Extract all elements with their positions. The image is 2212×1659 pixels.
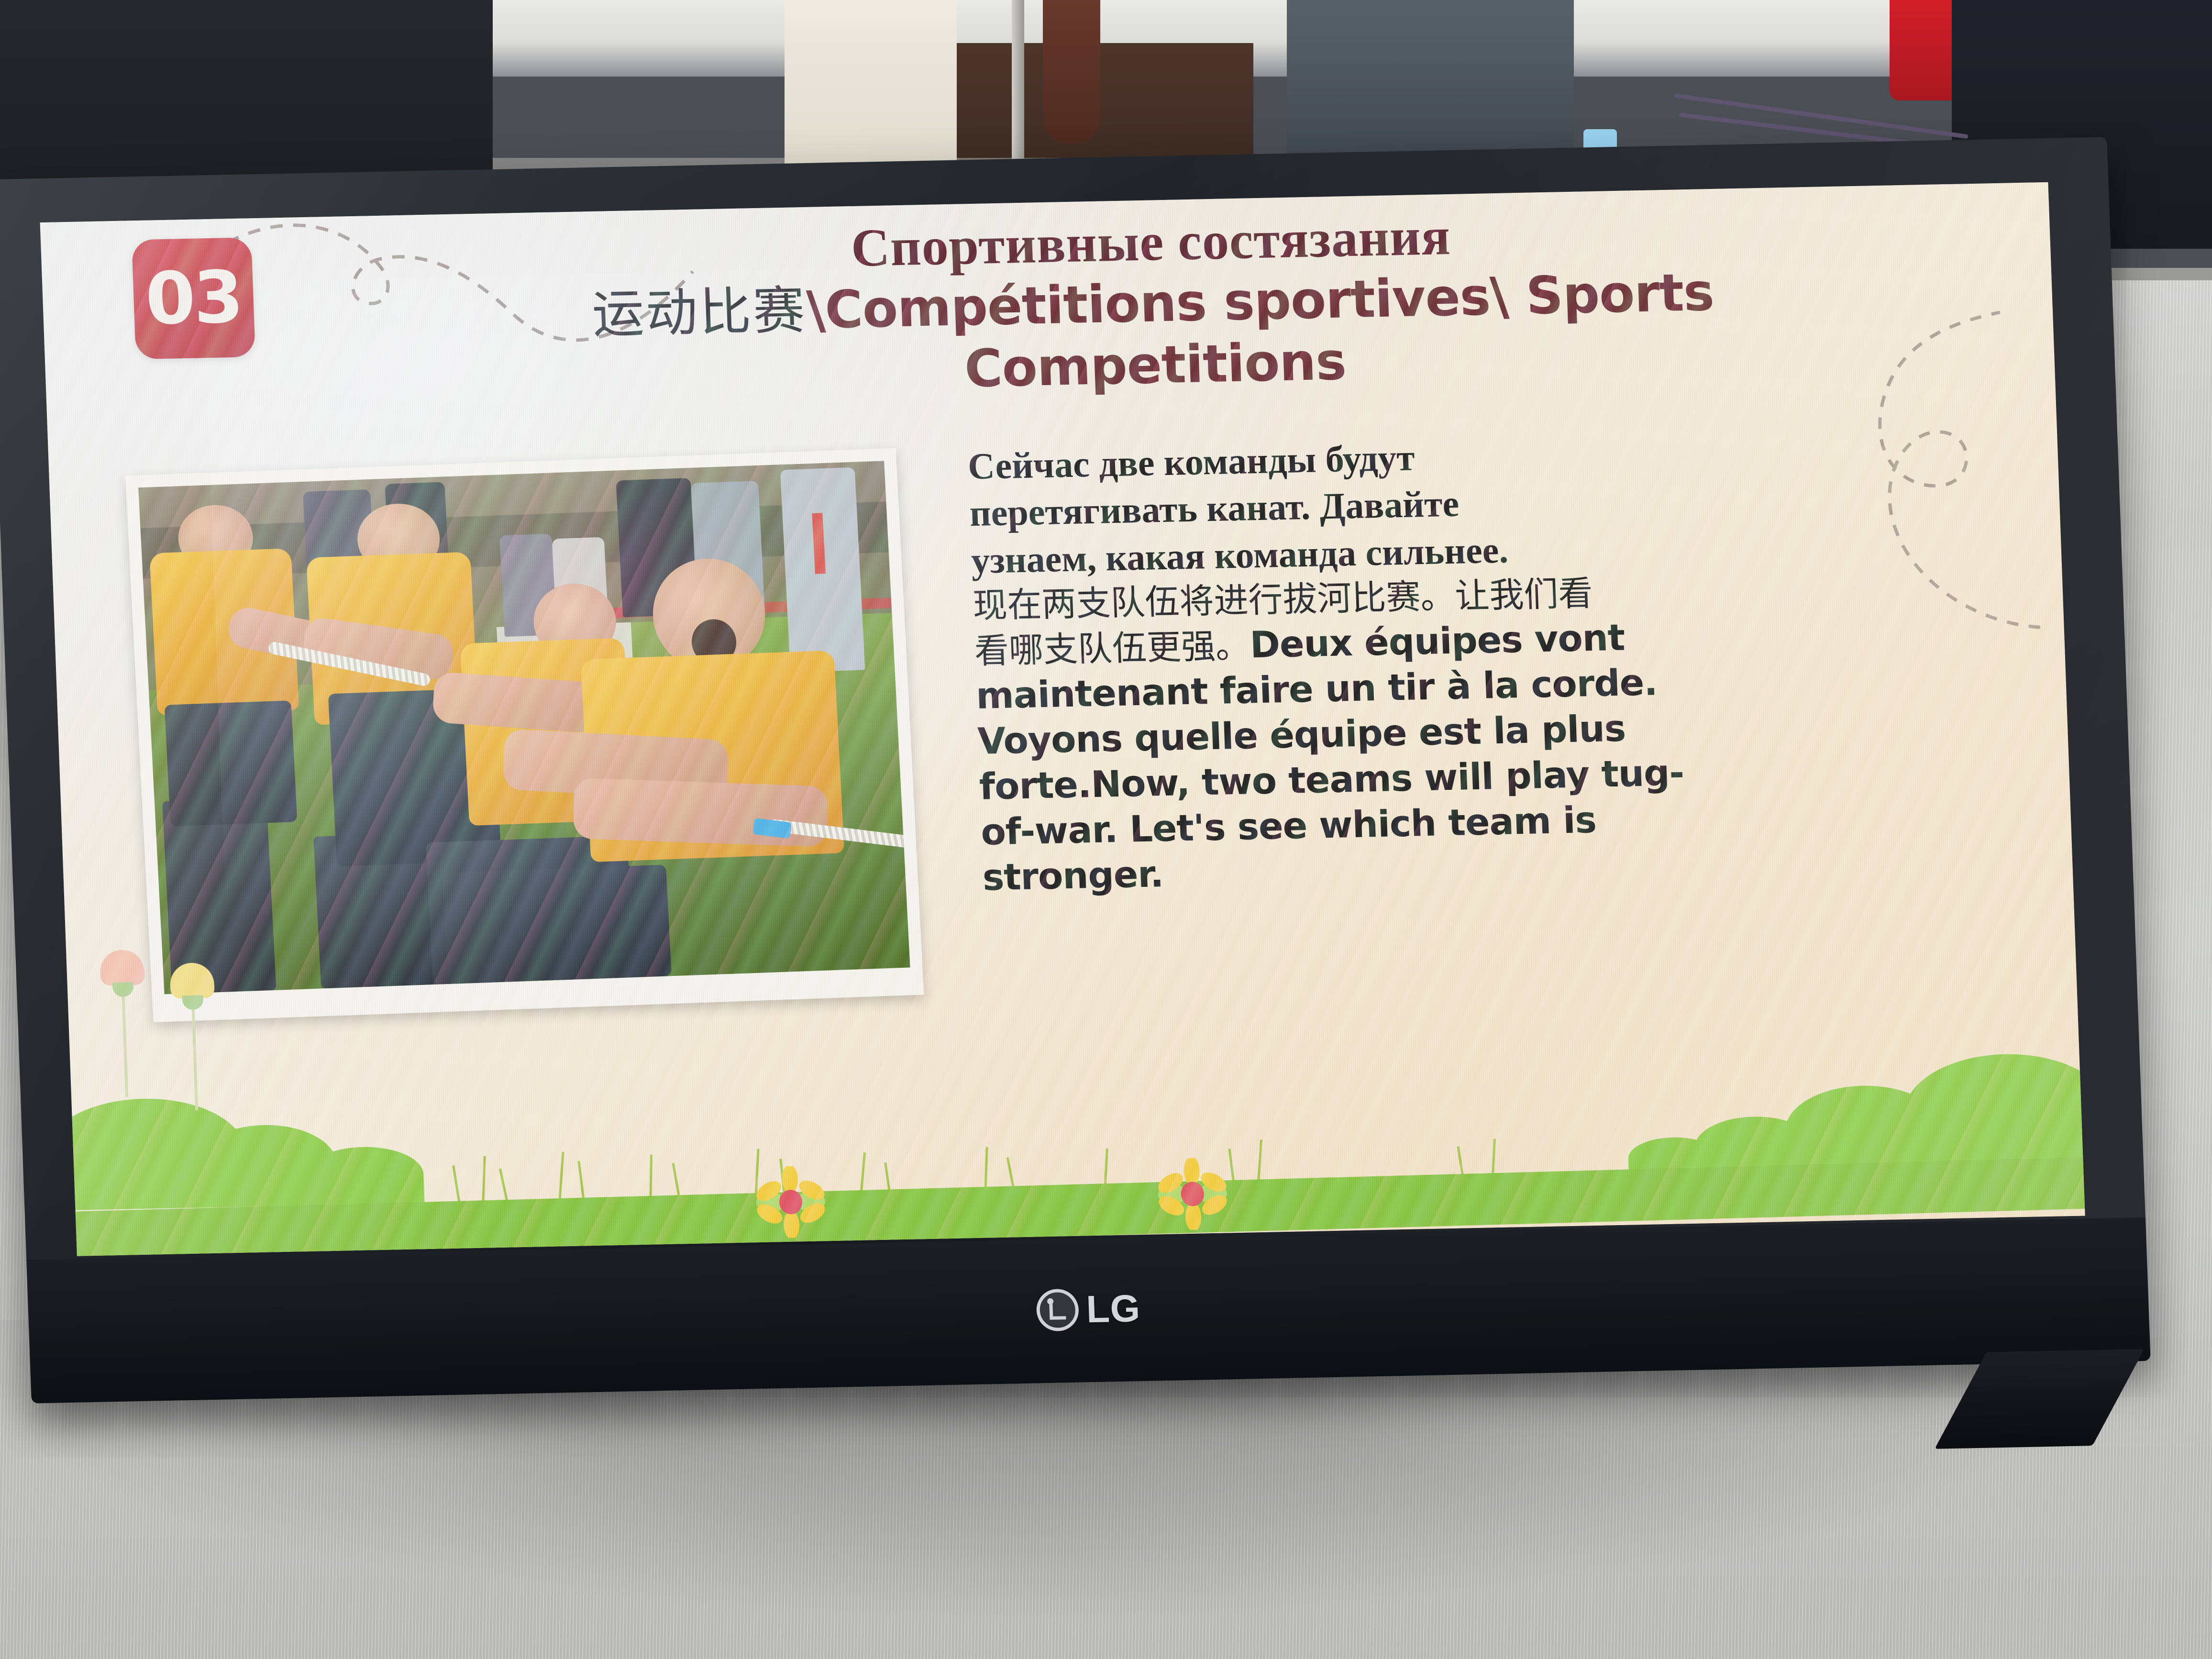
tulip-bloom: [100, 950, 145, 986]
photo-scene: LG 03: [0, 0, 2212, 1659]
grass-blade: [1006, 1157, 1016, 1192]
grass-blade: [754, 1149, 759, 1196]
body-chinese-line-2: 看哪支队伍更强。: [973, 625, 1250, 671]
grass-blade: [884, 1162, 891, 1194]
slide-number: 03: [144, 262, 243, 335]
grass-blade: [452, 1165, 460, 1203]
photo-athlete-arm: [573, 778, 828, 847]
lg-brand-logo: LG: [1036, 1287, 1141, 1331]
tulip-bloom: [169, 962, 215, 999]
tulip-calyx: [182, 995, 204, 1010]
grass-blade: [499, 1169, 509, 1202]
grass-blade: [482, 1156, 486, 1202]
person-arm: [1043, 0, 1100, 144]
lg-circle-icon: [1036, 1289, 1079, 1332]
bush: [1627, 1137, 1720, 1179]
bush: [1902, 1052, 2085, 1173]
body-russian: Сейчас две команды будут перетягивать ка…: [967, 422, 2023, 584]
grass-blade: [1228, 1149, 1236, 1187]
photo-official: [780, 467, 865, 672]
slide-photo-frame: [125, 448, 924, 1022]
presentation-slide: 03 Спортивные состязания 运动比赛\Compétitio…: [40, 182, 2085, 1256]
bush: [1694, 1116, 1815, 1178]
body-french-line-4-start: forte.: [978, 763, 1092, 808]
body-french-part-1: Deux équipes vont: [1249, 616, 1625, 666]
grass-blade: [1457, 1146, 1465, 1183]
grass-blade: [1104, 1149, 1108, 1190]
grass-blade: [984, 1147, 988, 1192]
slide-body-text: Сейчас две команды будут перетягивать ка…: [967, 422, 2035, 900]
bush: [303, 1146, 424, 1206]
daisy-flower: [1155, 1157, 1229, 1230]
lg-television[interactable]: LG 03: [0, 137, 2151, 1403]
tulip-yellow: [169, 962, 219, 1111]
tulip-pink: [100, 950, 149, 1098]
grass-blade: [860, 1152, 866, 1194]
slide-title-chinese: 运动比赛: [591, 281, 807, 345]
photo-athlete-shorts: [165, 700, 298, 827]
grass-blade: [1257, 1139, 1262, 1186]
grass-blade: [558, 1152, 564, 1201]
daisy-flower: [753, 1165, 828, 1239]
lg-wordmark: LG: [1085, 1289, 1141, 1328]
grass-blade: [672, 1163, 681, 1198]
tug-of-war-photo: [138, 461, 910, 995]
tulip-stem: [192, 1010, 199, 1110]
grass-blade: [1491, 1139, 1496, 1182]
bush: [1784, 1084, 1945, 1176]
grass-blade: [779, 1159, 785, 1196]
photo-athlete-shorts: [442, 864, 672, 984]
tulip-calyx: [112, 982, 134, 997]
slide-number-badge: 03: [132, 237, 255, 359]
grass-blade: [649, 1155, 653, 1199]
tv-screen[interactable]: 03 Спортивные состязания 运动比赛\Compétitio…: [40, 182, 2085, 1256]
tulip-stem: [122, 997, 129, 1097]
bush: [192, 1124, 338, 1208]
slide-title-block: Спортивные состязания 运动比赛\Compétitions …: [309, 197, 1998, 412]
grass-blade: [577, 1161, 585, 1200]
